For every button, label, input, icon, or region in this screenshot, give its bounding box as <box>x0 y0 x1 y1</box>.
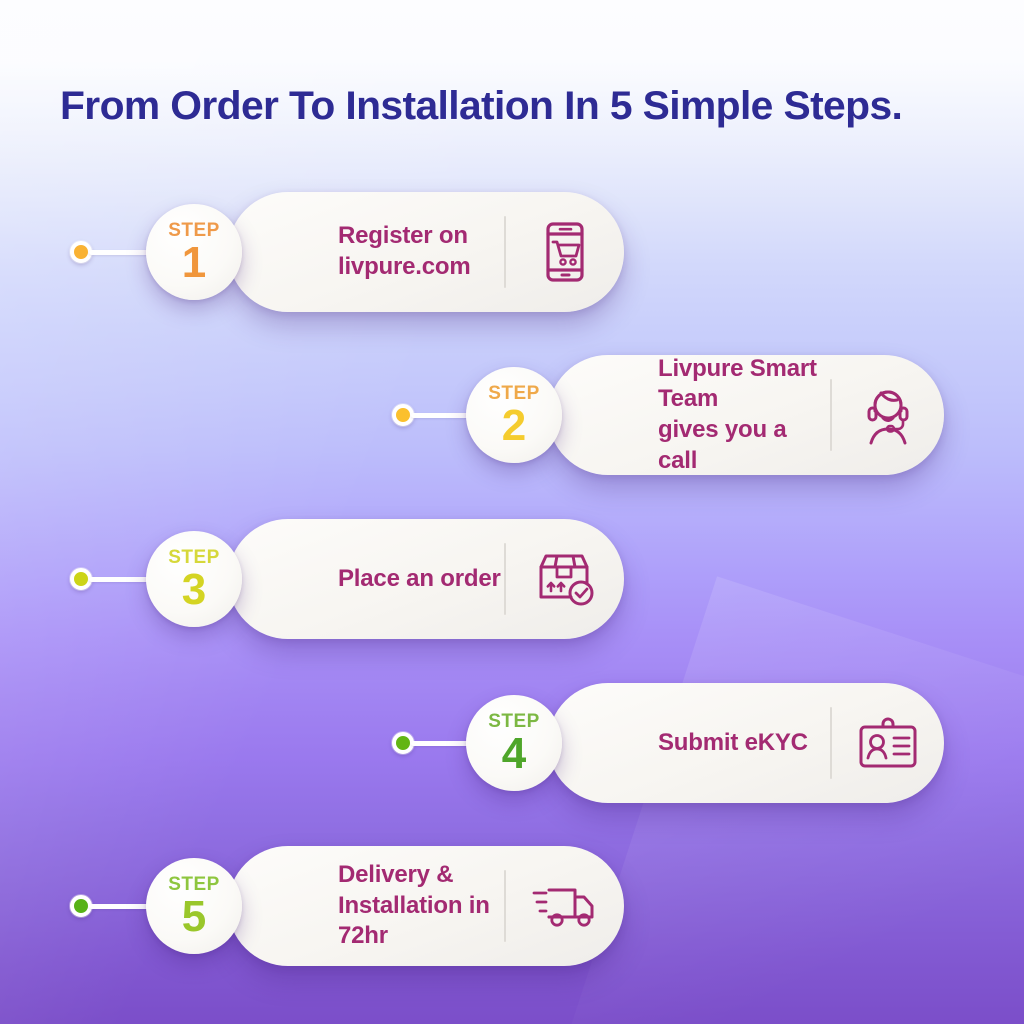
step-text-4: Submit eKYC <box>658 728 830 759</box>
step-number-4: 4 <box>502 734 526 774</box>
step-number-5: 5 <box>182 897 206 937</box>
page-title: From Order To Installation In 5 Simple S… <box>60 84 998 129</box>
delivery-truck-icon <box>506 880 624 932</box>
step-badge-5[interactable]: STEP 5 <box>146 858 242 954</box>
step-badge-4[interactable]: STEP 4 <box>466 695 562 791</box>
id-card-icon <box>832 716 944 770</box>
step-number-1: 1 <box>182 243 206 283</box>
step-card-3[interactable]: Place an order <box>228 519 624 639</box>
step-row-4: Submit eKYC STEP 4 <box>0 683 1024 803</box>
infographic-canvas: From Order To Installation In 5 Simple S… <box>0 0 1024 1024</box>
step-badge-3[interactable]: STEP 3 <box>146 531 242 627</box>
step-label-5: STEP <box>168 875 220 894</box>
step-label-1: STEP <box>168 221 220 240</box>
step-number-2: 2 <box>502 406 526 446</box>
step-text-2: Livpure Smart Team gives you a call <box>658 354 830 477</box>
step-card-4[interactable]: Submit eKYC <box>548 683 944 803</box>
step-badge-1[interactable]: STEP 1 <box>146 204 242 300</box>
step-text-1: Register on livpure.com <box>338 221 504 282</box>
mobile-shopping-cart-icon <box>506 221 624 283</box>
step-row-1: Register on livpure.com <box>0 192 1024 312</box>
step-text-5: Delivery & Installation in 72hr <box>338 860 504 952</box>
step-badge-2[interactable]: STEP 2 <box>466 367 562 463</box>
step-card-2[interactable]: Livpure Smart Team gives you a call <box>548 355 944 475</box>
step-label-2: STEP <box>488 384 540 403</box>
step-row-2: Livpure Smart Team gives you a call <box>0 355 1024 475</box>
step-label-4: STEP <box>488 712 540 731</box>
step-card-1[interactable]: Register on livpure.com <box>228 192 624 312</box>
step-text-3: Place an order <box>338 564 504 595</box>
step-row-3: Place an order <box>0 519 1024 639</box>
support-agent-headset-icon <box>832 384 944 446</box>
step-number-3: 3 <box>182 570 206 610</box>
package-box-check-icon <box>506 549 624 609</box>
step-label-3: STEP <box>168 548 220 567</box>
step-card-5[interactable]: Delivery & Installation in 72hr <box>228 846 624 966</box>
step-row-5: Delivery & Installation in 72hr <box>0 846 1024 966</box>
